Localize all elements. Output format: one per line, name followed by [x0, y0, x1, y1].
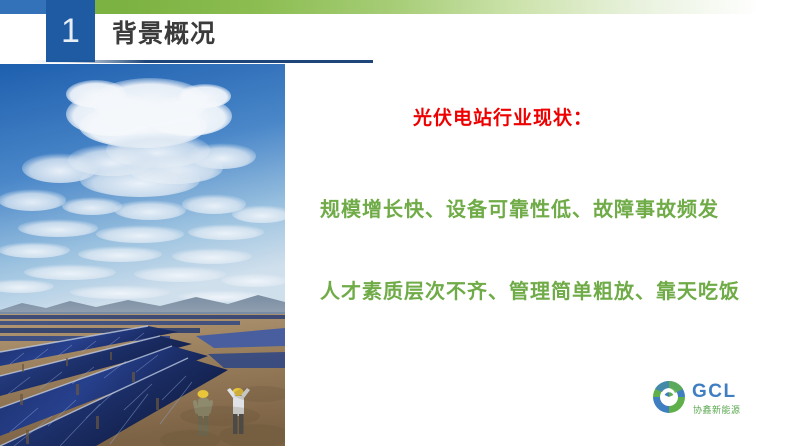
gcl-subtitle: 协鑫新能源 — [693, 403, 741, 416]
gcl-logo: GCL 协鑫新能源 — [650, 378, 770, 420]
solar-farm-photo — [0, 64, 285, 446]
page-title: 背景概况 — [112, 14, 216, 50]
gcl-wordmark: GCL — [692, 381, 737, 403]
top-gradient-band — [0, 0, 793, 14]
section-number-chip: 1 — [46, 0, 95, 62]
content-headline: 光伏电站行业现状： — [413, 103, 593, 130]
title-underline-rule — [28, 60, 373, 63]
top-band-blue-segment — [0, 0, 46, 14]
content-bullet-2: 人才素质层次不齐、管理简单粗放、靠天吃饭 — [320, 275, 740, 304]
gcl-pinwheel-icon — [650, 378, 688, 416]
content-bullet-1: 规模增长快、设备可靠性低、故障事故频发 — [320, 193, 719, 222]
solar-farm-photo-illustration — [0, 64, 285, 446]
